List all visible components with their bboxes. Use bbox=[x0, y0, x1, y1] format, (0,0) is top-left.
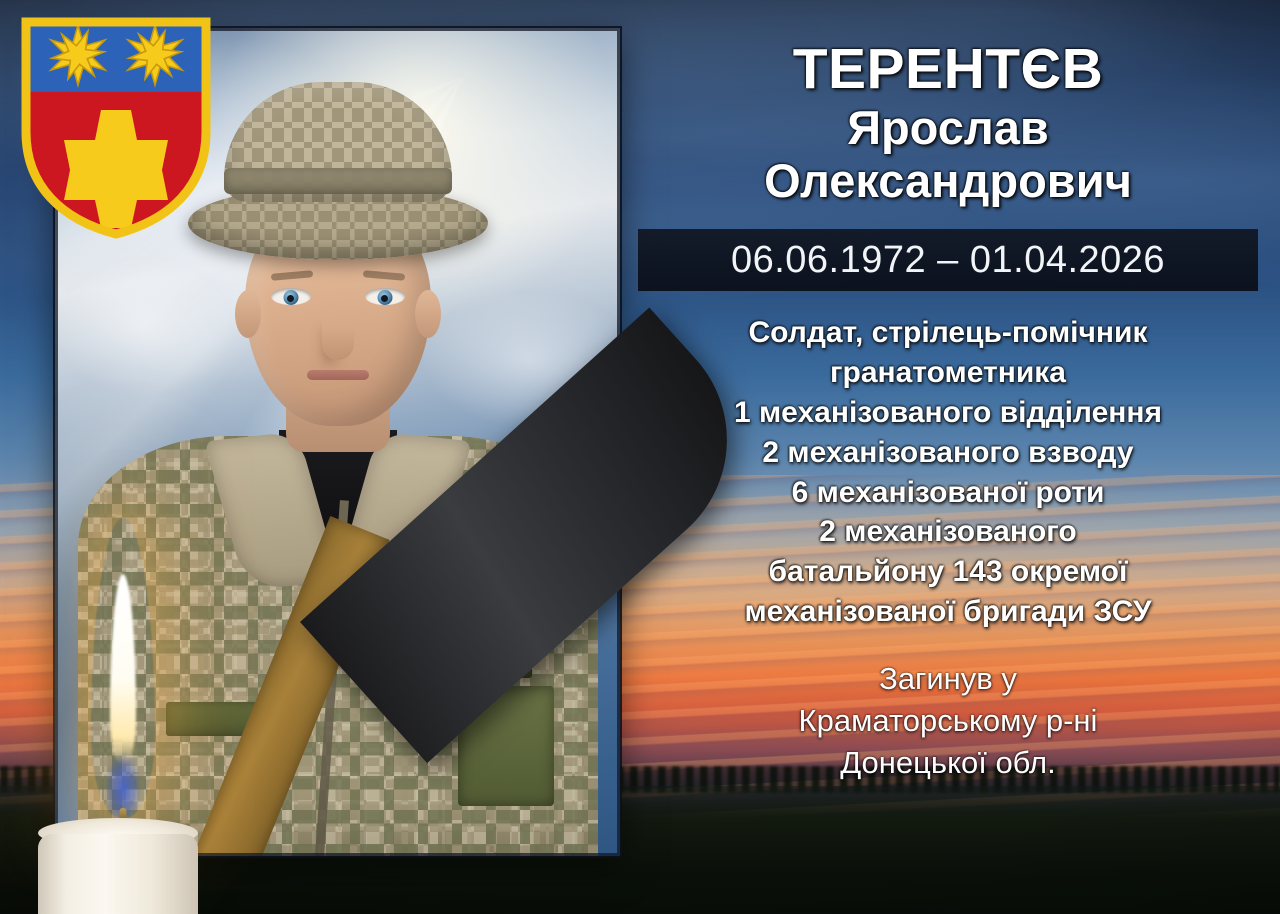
name-block: ТЕРЕНТЄВ Ярослав Олександрович bbox=[630, 26, 1266, 207]
ear-right bbox=[415, 290, 441, 338]
ear-left bbox=[235, 290, 261, 338]
place-line: Загинув у bbox=[630, 658, 1266, 700]
place-line: Донецької обл. bbox=[630, 742, 1266, 784]
pupil-left bbox=[287, 295, 294, 302]
coat-of-arms-shield bbox=[18, 14, 214, 242]
nose bbox=[322, 306, 354, 360]
iris-right bbox=[377, 290, 392, 305]
eye-left bbox=[271, 288, 311, 305]
memorial-candle bbox=[28, 494, 218, 914]
eyebrow-left bbox=[270, 270, 312, 281]
candle-body bbox=[38, 834, 198, 914]
eyebrow-right bbox=[362, 270, 404, 281]
unit-line: 2 механізованого bbox=[630, 512, 1266, 552]
patronymic-text: Олександрович bbox=[630, 155, 1266, 208]
place-line: Краматорському р-ні bbox=[630, 700, 1266, 742]
hat-band bbox=[224, 168, 452, 194]
memorial-poster: ТЕРЕНТЄВ Ярослав Олександрович 06.06.197… bbox=[0, 0, 1280, 914]
pupil-right bbox=[381, 295, 388, 302]
life-dates-banner: 06.06.1972 – 01.04.2026 bbox=[638, 229, 1258, 291]
rank-and-unit-block: Солдат, стрілець-помічник гранатометника… bbox=[630, 313, 1266, 631]
mouth bbox=[307, 370, 369, 380]
life-dates-text: 06.06.1972 – 01.04.2026 bbox=[731, 239, 1165, 282]
unit-line: 2 механізованого взводу bbox=[630, 433, 1266, 473]
boonie-hat bbox=[188, 82, 488, 260]
unit-line: Солдат, стрілець-помічник bbox=[630, 313, 1266, 353]
iris-left bbox=[283, 290, 298, 305]
eye-right bbox=[365, 288, 405, 305]
place-of-death-block: Загинув у Краматорському р-ні Донецької … bbox=[630, 658, 1266, 785]
first-name-text: Ярослав bbox=[630, 102, 1266, 155]
unit-line: 6 механізованої роти bbox=[630, 473, 1266, 513]
unit-line: батальйону 143 окремої bbox=[630, 552, 1266, 592]
unit-line: 1 механізованого відділення bbox=[630, 393, 1266, 433]
surname-text: ТЕРЕНТЄВ bbox=[630, 40, 1266, 98]
unit-line: механізованої бригади ЗСУ bbox=[630, 592, 1266, 632]
unit-line: гранатометника bbox=[630, 353, 1266, 393]
memorial-text-column: ТЕРЕНТЄВ Ярослав Олександрович 06.06.197… bbox=[630, 26, 1266, 906]
